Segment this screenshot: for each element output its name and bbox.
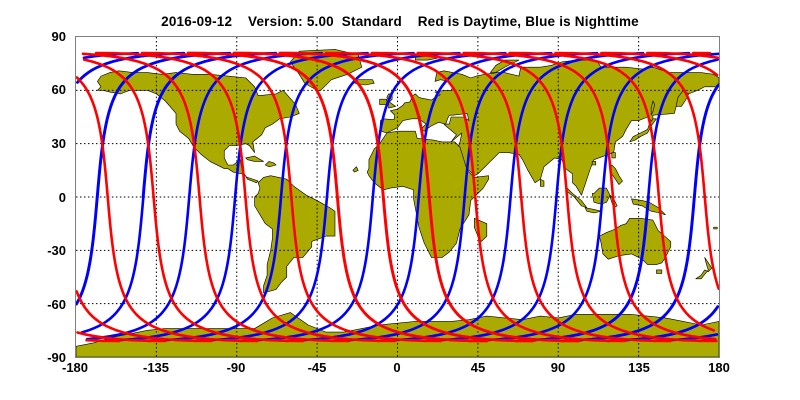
daytime-ground-track [77, 291, 211, 341]
daytime-ground-track [372, 53, 671, 341]
nighttime-ground-track [516, 197, 648, 341]
daytime-ground-track [87, 340, 120, 341]
daytime-ground-track [77, 77, 257, 341]
plot-area[interactable] [75, 36, 720, 358]
tracks-group [76, 53, 719, 341]
nighttime-ground-track [103, 197, 235, 341]
y-tick-label: 30 [0, 136, 66, 151]
y-tick-label: 60 [0, 82, 66, 97]
daytime-ground-track [84, 60, 303, 341]
nighttime-ground-track [149, 197, 281, 341]
x-tick-label: -135 [116, 360, 196, 375]
ground-track-map-figure: 2016-09-12 Version: 5.00 Standard Red is… [0, 0, 800, 400]
nighttime-ground-track [562, 197, 694, 341]
y-tick-label: 0 [0, 190, 66, 205]
nighttime-ground-track [76, 197, 97, 304]
daytime-ground-track [142, 53, 441, 341]
nighttime-ground-track [286, 197, 418, 341]
nighttime-ground-track [424, 197, 556, 341]
x-tick-label: -90 [196, 360, 276, 375]
x-tick-label: 90 [518, 360, 598, 375]
nighttime-ground-track [194, 197, 326, 341]
daytime-ground-track [96, 53, 395, 341]
x-tick-label: 45 [438, 360, 518, 375]
nighttime-ground-track [77, 197, 98, 304]
nighttime-ground-track [332, 197, 464, 341]
y-tick-label: -30 [0, 243, 66, 258]
ground-tracks-layer [76, 37, 719, 357]
x-tick-label: 0 [357, 360, 437, 375]
y-tick-label: -60 [0, 297, 66, 312]
figure-title: 2016-09-12 Version: 5.00 Standard Red is… [0, 14, 800, 29]
nighttime-ground-track [378, 197, 510, 341]
nighttime-ground-track [648, 60, 717, 197]
daytime-ground-track [234, 53, 533, 341]
nighttime-ground-track [470, 197, 602, 341]
daytime-ground-track [280, 53, 579, 341]
y-tick-label: 90 [0, 29, 66, 44]
daytime-ground-track [188, 53, 487, 341]
nighttime-ground-track [562, 197, 694, 341]
daytime-ground-track [326, 53, 625, 341]
x-tick-label: -45 [277, 360, 357, 375]
nighttime-ground-track [240, 197, 372, 341]
x-tick-label: 135 [599, 360, 679, 375]
x-tick-label: 180 [679, 360, 759, 375]
nighttime-ground-track [516, 197, 648, 341]
daytime-ground-track [418, 53, 717, 341]
x-tick-label: -180 [35, 360, 115, 375]
